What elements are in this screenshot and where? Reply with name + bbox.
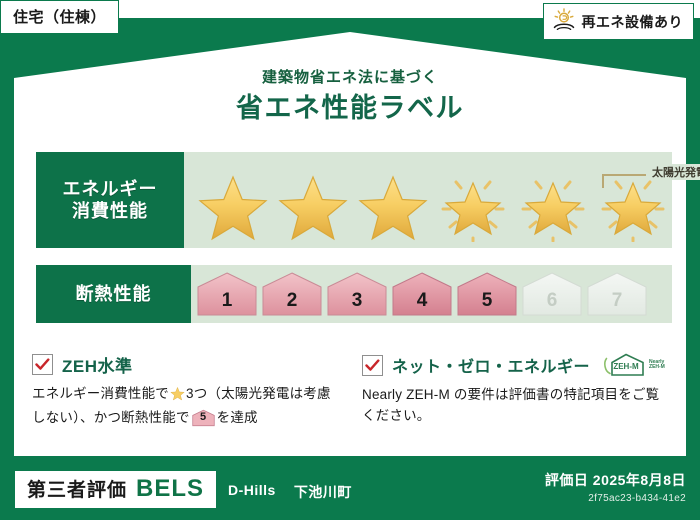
project-info: D-Hills 下池川町 — [228, 482, 352, 502]
project-name: D-Hills — [228, 482, 276, 502]
evaluation-uid: 2f75ac23-b434-41e2 — [545, 493, 686, 504]
insulation-performance-label-box: 断熱性能 — [36, 265, 191, 323]
energy-performance-row: エネルギー 消費性能 太陽光発電(自家消費)分 — [36, 152, 672, 248]
zeh-m-logo-sub-line2: ZEH-M — [649, 364, 665, 370]
insulation-level-7: 7 — [586, 271, 648, 317]
zeh-standard-block: ZEH水準 エネルギー消費性能で3つ（太陽光発電は考慮しない）、かつ断熱性能で5… — [32, 352, 332, 429]
evaluation-info: 評価日 2025年8月8日 2f75ac23-b434-41e2 — [545, 470, 686, 504]
insulation-label: 断熱性能 — [76, 283, 152, 306]
sun-icon — [552, 8, 576, 35]
insulation-level-4-num: 4 — [417, 291, 428, 317]
insulation-level-3: 3 — [326, 271, 388, 317]
insulation-level-1: 1 — [196, 271, 258, 317]
label-subtitle: 建築物省エネ法に基づく — [0, 66, 700, 87]
check-icon — [32, 354, 53, 375]
star-4-solar — [434, 170, 512, 244]
insulation-level-6-num: 6 — [547, 291, 558, 317]
project-area: 下池川町 — [294, 482, 352, 502]
insulation-performance-row: 断熱性能 — [36, 265, 672, 323]
insulation-level-6: 6 — [521, 271, 583, 317]
insulation-level-list: 1 2 3 4 — [191, 271, 648, 317]
zeh-m-logo: ZEH-M Nearly ZEH-M — [603, 352, 665, 378]
energy-performance-label-box: エネルギー 消費性能 — [36, 152, 184, 248]
star-1 — [194, 170, 272, 244]
bels-badge: 第三者評価 BELS — [14, 470, 217, 509]
insulation-level-2: 2 — [261, 271, 323, 317]
net-zero-energy-header: ネット・ゼロ・エネルギー ZEH-M Nearly ZEH-M — [362, 352, 672, 378]
energy-label-line1: エネルギー — [63, 178, 158, 201]
energy-performance-label: 住宅（住棟） 再エネ設備あり 建築物省エネ法に基づく 省エネ性能ラベル — [0, 0, 700, 520]
zeh-desc-part1: エネルギー消費性能で — [32, 386, 169, 401]
bels-badge-en: BELS — [136, 475, 204, 503]
star-rating — [190, 156, 672, 244]
inline-insulation-badge: 5 — [192, 409, 215, 427]
dwelling-type-label: 住宅（住棟） — [13, 9, 106, 26]
renewable-equipment-label: 再エネ設備あり — [582, 12, 684, 32]
zeh-standard-header: ZEH水準 — [32, 352, 332, 377]
insulation-level-3-num: 3 — [352, 291, 363, 317]
insulation-level-2-num: 2 — [287, 291, 298, 317]
zeh-m-logo-sub: Nearly ZEH-M — [649, 360, 665, 371]
net-zero-energy-description: Nearly ZEH-M の要件は評価書の特記項目をご覧ください。 — [362, 385, 672, 427]
inline-insulation-badge-num: 5 — [192, 409, 215, 427]
insulation-level-5-num: 5 — [482, 291, 493, 317]
inline-star-icon — [170, 389, 185, 404]
evaluation-date: 評価日 2025年8月8日 — [545, 470, 686, 490]
insulation-level-5: 5 — [456, 271, 518, 317]
energy-label-line2: 消費性能 — [72, 200, 148, 223]
svg-text:ZEH-M: ZEH-M — [613, 362, 639, 371]
zeh-standard-description: エネルギー消費性能で3つ（太陽光発電は考慮しない）、かつ断熱性能で5を達成 — [32, 384, 332, 429]
zeh-standard-title: ZEH水準 — [62, 352, 133, 377]
footer-bar: 第三者評価 BELS D-Hills 下池川町 評価日 2025年8月8日 2f… — [0, 462, 700, 520]
insulation-level-4: 4 — [391, 271, 453, 317]
bels-badge-jp: 第三者評価 — [27, 475, 127, 502]
star-5-solar — [514, 170, 592, 244]
star-3 — [354, 170, 432, 244]
net-zero-energy-title: ネット・ゼロ・エネルギー — [392, 353, 590, 377]
energy-stars-panel: 太陽光発電(自家消費)分 — [184, 152, 672, 248]
insulation-level-7-num: 7 — [612, 291, 623, 317]
dwelling-type-tag: 住宅（住棟） — [0, 0, 119, 34]
zeh-desc-part3: を達成 — [217, 410, 258, 425]
insulation-level-1-num: 1 — [222, 291, 233, 317]
solar-caption: 太陽光発電(自家消費)分 — [646, 164, 700, 180]
check-icon — [362, 355, 383, 376]
star-2 — [274, 170, 352, 244]
renewable-equipment-tag: 再エネ設備あり — [543, 3, 695, 40]
net-zero-energy-block: ネット・ゼロ・エネルギー ZEH-M Nearly ZEH-M Nearly Z… — [362, 352, 672, 427]
insulation-levels-panel: 1 2 3 4 — [191, 265, 672, 323]
page-title: 省エネ性能ラベル — [0, 86, 700, 125]
